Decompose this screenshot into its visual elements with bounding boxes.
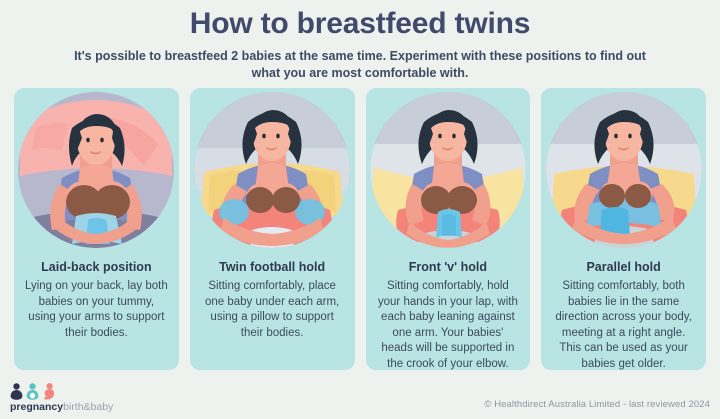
card-title: Twin football hold: [200, 260, 345, 275]
illustration-area: [190, 88, 355, 260]
pregnancy-figure-icon: [10, 383, 23, 400]
illustration-area: [541, 88, 706, 260]
position-card-laid-back: Laid-back position Lying on your back, l…: [14, 88, 179, 370]
card-title: Laid-back position: [24, 260, 169, 275]
card-body: Sitting comfortably, both babies lie in …: [551, 279, 696, 370]
baby-figure-icon: [42, 383, 55, 400]
position-card-twin-football-hold: Twin football hold Sitting comfortably, …: [190, 88, 355, 370]
card-title: Parallel hold: [551, 260, 696, 275]
brand-logo: pregnancybirth&baby: [10, 383, 113, 413]
logo-figure-group: [10, 383, 113, 400]
card-body: Lying on your back, lay both babies on y…: [24, 279, 169, 341]
infographic-poster: How to breastfeed twins It's possible to…: [0, 0, 720, 419]
logo-word-bold: pregnancy: [10, 401, 63, 413]
page-subtitle: It's possible to breastfeed 2 babies at …: [60, 48, 660, 82]
illustration-area: [366, 88, 531, 260]
card-caption: Front 'v' hold Sitting comfortably, hold…: [366, 260, 531, 370]
card-title: Front 'v' hold: [376, 260, 521, 275]
position-card-front-v-hold: Front 'v' hold Sitting comfortably, hold…: [366, 88, 531, 370]
logo-wordmark: pregnancybirth&baby: [10, 402, 113, 413]
card-caption: Parallel hold Sitting comfortably, both …: [541, 260, 706, 370]
card-caption: Twin football hold Sitting comfortably, …: [190, 260, 355, 341]
card-caption: Laid-back position Lying on your back, l…: [14, 260, 179, 341]
poster-header: How to breastfeed twins It's possible to…: [0, 0, 720, 82]
position-card-parallel-hold: Parallel hold Sitting comfortably, both …: [541, 88, 706, 370]
logo-word-light: birth&baby: [63, 401, 113, 413]
illustration-parallel-hold: [546, 92, 702, 248]
card-body: Sitting comfortably, hold your hands in …: [376, 279, 521, 370]
copyright-text: © Healthdirect Australia Limited - last …: [484, 399, 710, 410]
illustration-area: [14, 88, 179, 260]
card-body: Sitting comfortably, place one baby unde…: [200, 279, 345, 341]
illustration-front-v-hold: [370, 92, 526, 248]
page-title: How to breastfeed twins: [0, 6, 720, 42]
birth-figure-icon: [26, 383, 39, 400]
illustration-twin-football-hold: [194, 92, 350, 248]
poster-footer: pregnancybirth&baby © Healthdirect Austr…: [0, 375, 720, 419]
position-card-list: Laid-back position Lying on your back, l…: [14, 88, 706, 370]
illustration-laid-back-position: [18, 92, 174, 248]
